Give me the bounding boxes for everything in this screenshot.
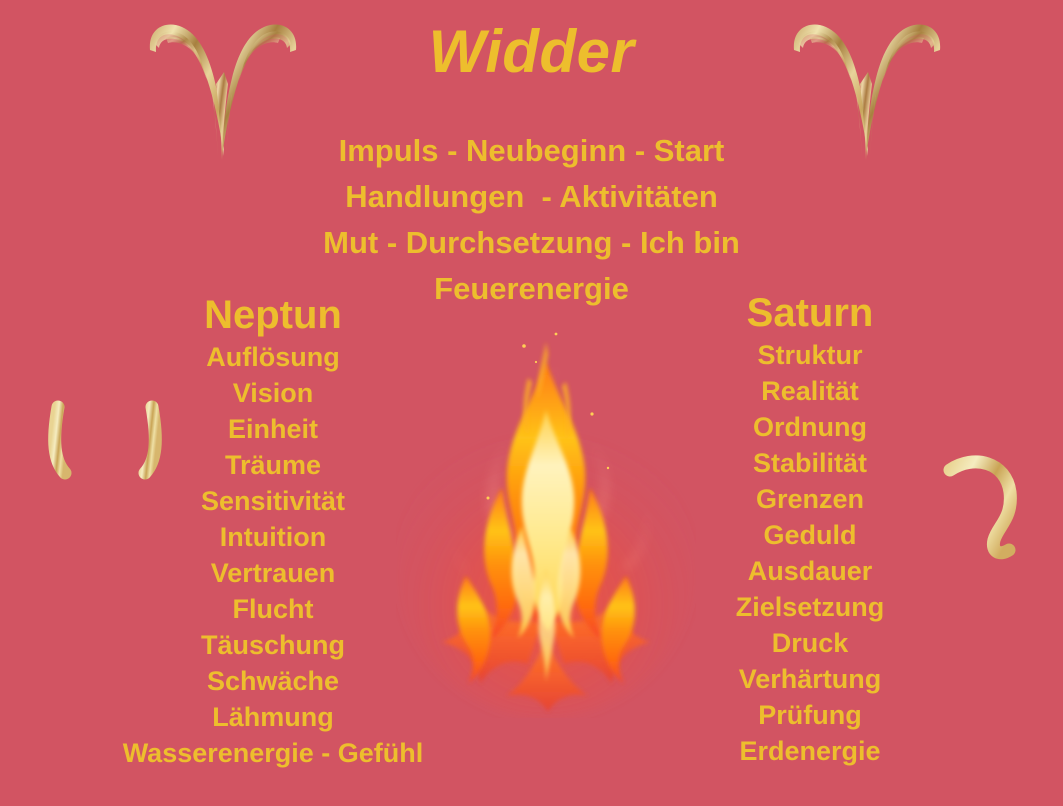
list-item: Ausdauer [690,553,930,589]
list-item: Flucht [118,591,428,627]
column-heading-neptun: Neptun [118,292,428,338]
subtitle-line: Impuls - Neubeginn - Start [0,128,1063,174]
list-item: Täuschung [118,627,428,663]
list-item: Zielsetzung [690,589,930,625]
list-item: Geduld [690,517,930,553]
list-item: Realität [690,373,930,409]
list-item: Träume [118,447,428,483]
list-item: Struktur [690,337,930,373]
saturn-glyph-icon [912,400,1047,570]
list-item: Prüfung [690,697,930,733]
list-item: Vision [118,375,428,411]
flame-image [396,318,696,718]
subtitle-line: Handlungen - Aktivitäten [0,174,1063,220]
subtitle-block: Impuls - Neubeginn - Start Handlungen - … [0,128,1063,312]
list-item: Verhärtung [690,661,930,697]
column-heading-saturn: Saturn [690,290,930,336]
list-item: Stabilität [690,445,930,481]
list-item: Einheit [118,411,428,447]
list-item: Vertrauen [118,555,428,591]
list-item: Schwäche [118,663,428,699]
list-item: Wasserenergie - Gefühl [118,735,428,771]
list-item: Erdenergie [690,733,930,769]
list-item: Auflösung [118,339,428,375]
list-item: Ordnung [690,409,930,445]
subtitle-line: Mut - Durchsetzung - Ich bin [0,220,1063,266]
planet-column-neptun: Neptun Auflösung Vision Einheit Träume S… [118,292,428,771]
page-title: Widder [0,20,1063,83]
planet-column-saturn: Saturn Struktur Realität Ordnung Stabili… [690,290,930,769]
list-item: Lähmung [118,699,428,735]
list-item: Grenzen [690,481,930,517]
list-item: Sensitivität [118,483,428,519]
list-item: Druck [690,625,930,661]
zodiac-poster: Widder Impuls - Neubeginn - Start Handlu… [0,0,1063,806]
list-item: Intuition [118,519,428,555]
